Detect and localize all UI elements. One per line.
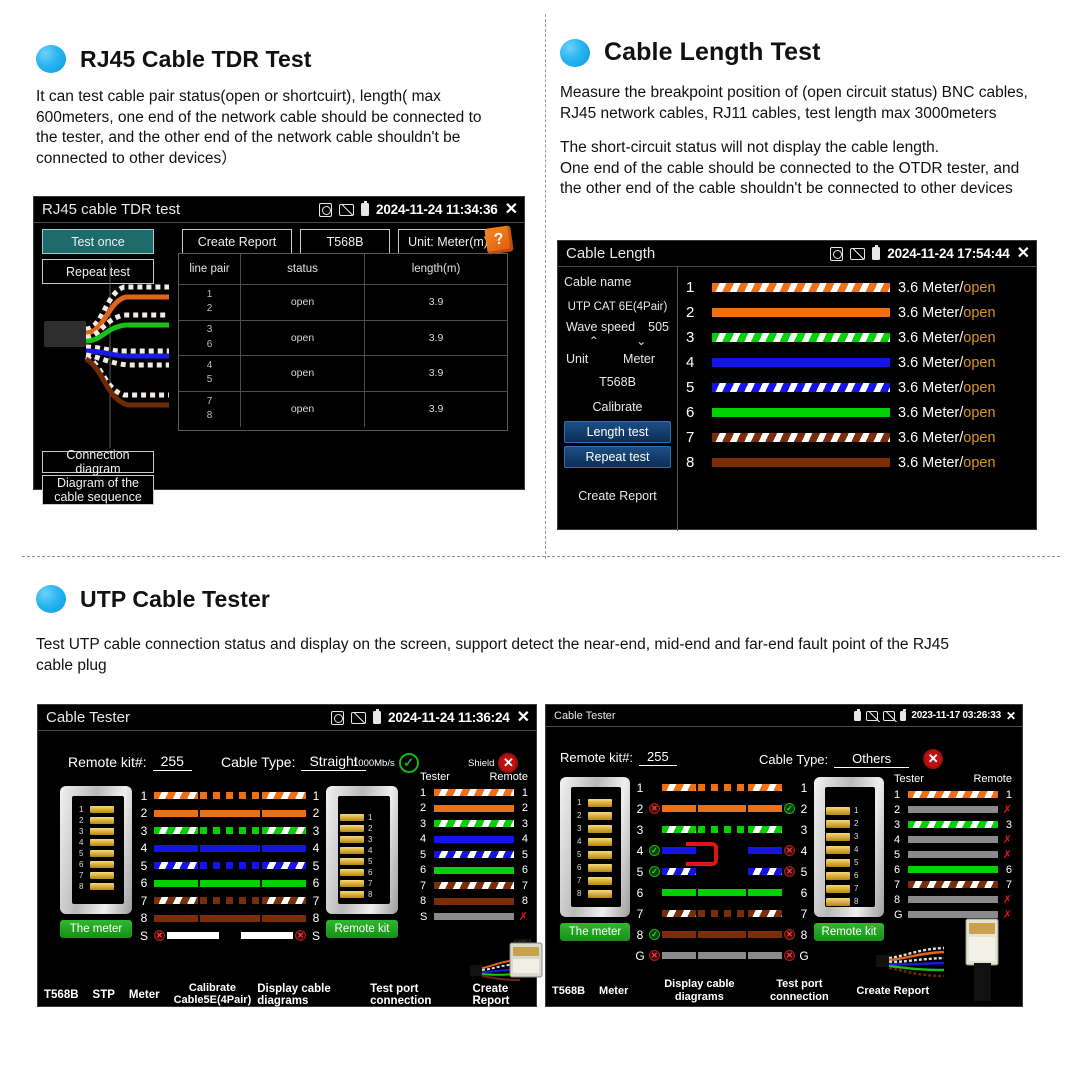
wire-bar [662, 784, 696, 791]
table-row: 36 open 3.9 [179, 321, 507, 357]
screen-icon [883, 711, 895, 721]
wire-bar [662, 952, 696, 959]
summary-left-pin: 2 [420, 802, 430, 814]
wire-bar [154, 810, 198, 817]
wire-right-number: 6 [798, 886, 810, 900]
footer-create-report[interactable]: Create Report [856, 985, 929, 997]
status-open: open [963, 330, 995, 346]
jack-pin [826, 872, 850, 880]
wire-bar [662, 826, 696, 833]
jack-pin [340, 891, 364, 898]
jack-pin [340, 880, 364, 887]
length-test-button[interactable]: Length test [564, 421, 671, 443]
jack-pin-label: 4 [854, 845, 858, 854]
wire-right-number: S [310, 929, 322, 943]
jack-pin-label: 6 [577, 863, 581, 872]
wire-right-number: 3 [798, 823, 810, 837]
fault-dot: ✕ [784, 845, 795, 856]
wire-segment: ✕✕ [154, 930, 306, 941]
line-number: 6 [686, 404, 704, 421]
jack-pin-label: 4 [577, 837, 581, 846]
wire-left-number: 4 [634, 844, 646, 858]
summary-bar [908, 896, 998, 903]
the-meter-button[interactable]: The meter [60, 920, 132, 938]
cable-wire-map: 1122334455667788S✕✕S [138, 787, 322, 945]
wire-left-number: 8 [634, 928, 646, 942]
shield-fail-icon: ✕ [498, 753, 518, 773]
page-title: Cable Length Test [604, 38, 821, 67]
tdr-body: Test once Create Report T568B Unit: Mete… [34, 223, 524, 491]
summary-right-pin: 8 [518, 895, 528, 907]
tdr-titlebar: RJ45 cable TDR test 2024-11-24 11:34:36 … [34, 197, 524, 223]
length-status: 3.6 Meter/open [898, 430, 996, 446]
pair-bottom: 5 [207, 374, 213, 385]
jack-pin [588, 890, 612, 898]
summary-bar [434, 820, 514, 827]
pair-bottom: 6 [207, 339, 213, 350]
standard-button[interactable]: T568B [558, 366, 677, 393]
the-meter-button[interactable]: The meter [560, 923, 630, 941]
wire-bar [748, 847, 782, 854]
wire-row: 22 [138, 805, 322, 823]
clen-results: 13.6 Meter/open23.6 Meter/open33.6 Meter… [678, 267, 1036, 531]
wire-row: 5✓✕5 [634, 861, 810, 882]
line-number: 2 [686, 304, 704, 321]
footer-test-port[interactable]: Test port connection [370, 983, 464, 1007]
wire-bar [262, 827, 306, 834]
wire-bar [698, 931, 746, 938]
section-paragraph: Test UTP cable connection status and dis… [36, 635, 986, 676]
footer-stp[interactable]: STP [93, 989, 115, 1001]
pass-dot: ✓ [649, 866, 660, 877]
summary-bar [908, 851, 998, 858]
line-number: 1 [686, 279, 704, 296]
header-length: length(m) [365, 254, 507, 284]
wire-bar [200, 880, 260, 887]
wire-row: 77 [138, 892, 322, 910]
wire-right-number: 3 [310, 824, 322, 838]
summary-left-pin: 4 [894, 834, 904, 846]
summary-right-pin: 7 [1002, 879, 1012, 891]
wire-bar [698, 952, 746, 959]
wire-row: 88 [138, 910, 322, 928]
battery-icon [361, 203, 369, 216]
pass-dot: ✓ [649, 845, 660, 856]
pair-top: 4 [207, 360, 213, 371]
wire-bar [698, 826, 746, 833]
jack-pin-label: 1 [854, 806, 858, 815]
jack-pin-label: 6 [368, 868, 372, 877]
jack-pin [588, 838, 612, 846]
fault-dot: ✕ [784, 866, 795, 877]
jack-pin [588, 812, 612, 820]
wire-bar [698, 889, 746, 896]
wire-bar [712, 383, 890, 392]
summary-right-pin: ✗ [1002, 893, 1012, 906]
remote-rj45-jack: 12345678 [326, 786, 398, 914]
summary-right-pin: ✗ [1002, 848, 1012, 861]
summary-tester-header: Tester [894, 773, 924, 785]
jack-pin [588, 851, 612, 859]
wire-segment [154, 862, 306, 869]
fault-dot: ✕ [649, 950, 660, 961]
jack-pin-label: 5 [854, 858, 858, 867]
wire-segment [154, 827, 306, 834]
battery-icon [872, 247, 880, 260]
length-status: 3.6 Meter/open [898, 355, 996, 371]
jack-pin-label: 8 [854, 897, 858, 906]
wire-segment [649, 784, 795, 791]
footer-t568b[interactable]: T568B [552, 985, 585, 997]
section-paragraph: Measure the breakpoint position of (open… [560, 83, 1038, 124]
footer-test-port[interactable]: Test port connection [766, 978, 832, 1002]
summary-row: 55 [420, 847, 528, 863]
wire-left-number: 3 [138, 824, 150, 838]
screen-off-icon [866, 711, 878, 721]
wire-left-number: S [138, 929, 150, 943]
wire-right-number: 5 [798, 865, 810, 879]
wire-bar [748, 784, 782, 791]
wire-bar [662, 805, 696, 812]
section-paragraph: It can test cable pair status(open or sh… [36, 87, 506, 169]
clen-title: Cable Length [566, 245, 655, 262]
jack-pin [588, 825, 612, 833]
jack-pin-label: 7 [854, 884, 858, 893]
wire-bar [200, 810, 260, 817]
jack-pin-label: 1 [368, 813, 372, 822]
wire-bar [698, 910, 746, 917]
remote-rj45-jack: 12345678 [814, 777, 884, 917]
wave-speed-label: Wave speed [566, 320, 635, 334]
wire-bar [712, 308, 890, 317]
wire-bar [662, 931, 696, 938]
status-open: open [963, 380, 995, 396]
close-icon[interactable]: ✕ [505, 202, 518, 218]
jack-pin-label: 3 [577, 824, 581, 833]
summary-row: 11 [894, 787, 1012, 802]
jack-pin-label: 4 [368, 846, 372, 855]
summary-right-pin: ✗ [1002, 803, 1012, 816]
create-report-button[interactable]: Create Report [558, 471, 677, 507]
wire-right-number: 7 [310, 894, 322, 908]
wire-right-number: 2 [310, 806, 322, 820]
section-cable-length: Cable Length Test Measure the breakpoint… [560, 38, 1050, 200]
wire-left-number: 3 [634, 823, 646, 837]
cell-length: 3.9 [429, 403, 444, 415]
chevron-up-icon[interactable]: ⌃ [589, 334, 599, 348]
summary-row: 44 [420, 832, 528, 848]
cable-wire-map: 112✕✓2334✓✕45✓✕566778✓✕8G✕✕G [634, 777, 810, 966]
jack-pin-label: 7 [577, 876, 581, 885]
shield-label: Shield [468, 758, 494, 769]
wire-segment [649, 889, 795, 896]
pair-top: 3 [207, 324, 213, 335]
summary-row: 33 [420, 816, 528, 832]
meter-rj45-jack: 12345678 [560, 777, 630, 917]
clock-icon [830, 247, 843, 261]
wire-bar [698, 805, 746, 812]
wire-bar [154, 792, 198, 799]
wire-bar [748, 889, 782, 896]
remote-kit-input[interactable]: 255 [153, 753, 192, 771]
cable-name-value[interactable]: UTP CAT 6E(4Pair) [558, 293, 677, 317]
wire-segment [154, 880, 306, 887]
jack-pin [90, 806, 114, 813]
wire-bar [748, 931, 782, 938]
remote-kit-input[interactable]: 255 [639, 749, 677, 766]
footer-calibrate[interactable]: Calibrate Cable5E(4Pair) [174, 983, 252, 1006]
cable-length-row: 43.6 Meter/open [686, 350, 1026, 375]
wire-left-number: G [634, 949, 646, 963]
wire-bar [662, 868, 696, 875]
fault-dot: ✕ [784, 950, 795, 961]
status-open: open [963, 305, 995, 321]
jack-pin-label: 8 [368, 890, 372, 899]
close-icon[interactable]: ✕ [517, 710, 530, 726]
vertical-divider [545, 14, 546, 559]
footer-meter[interactable]: Meter [599, 985, 628, 997]
jack-pin [90, 872, 114, 879]
pair-top: 1 [207, 289, 213, 300]
footer-create-report[interactable]: Create Report [472, 983, 536, 1007]
connection-diagram-button[interactable]: Connection diagram [42, 451, 154, 473]
wire-bar [200, 792, 260, 799]
tdr-screen: RJ45 cable TDR test 2024-11-24 11:34:36 … [33, 196, 525, 490]
summary-bar [434, 882, 514, 889]
remote-kit-button[interactable]: Remote kit [814, 923, 884, 941]
wire-bar [154, 880, 198, 887]
section-rj45-tdr: RJ45 Cable TDR Test It can test cable pa… [36, 45, 516, 169]
summary-bar [434, 805, 514, 812]
wire-bar [262, 792, 306, 799]
jack-pin-label: 6 [854, 871, 858, 880]
summary-row: 5✗ [894, 847, 1012, 862]
wire-row: 66 [634, 882, 810, 903]
summary-bar [908, 806, 998, 813]
summary-bar [908, 866, 998, 873]
wire-bar [154, 845, 198, 852]
jack-pin [90, 883, 114, 890]
jack-pin-label: 1 [79, 805, 83, 814]
jack-pin [90, 828, 114, 835]
summary-bar [434, 913, 514, 920]
jack-pin [588, 877, 612, 885]
remote-kit-button[interactable]: Remote kit [326, 920, 398, 938]
summary-left-pin: 5 [894, 849, 904, 861]
summary-row: 77 [420, 878, 528, 894]
test-once-button[interactable]: Test once [42, 229, 154, 254]
wire-segment [154, 845, 306, 852]
wire-bar [712, 408, 890, 417]
line-number: 3 [686, 329, 704, 346]
summary-right-pin: 3 [518, 818, 528, 830]
wire-row: S✕✕S [138, 927, 322, 945]
unit-value[interactable]: Meter [623, 352, 669, 366]
summary-right-pin: 7 [518, 880, 528, 892]
svg-text:12345678: 12345678 [968, 911, 990, 917]
cell-status: open [291, 296, 314, 308]
create-report-button[interactable]: Create Report [182, 229, 292, 254]
ct2-title: Cable Tester [554, 710, 616, 722]
summary-panel: Tester Remote 112✗334✗5✗66778✗G✗ [894, 773, 1012, 922]
wire-segment [154, 897, 306, 904]
summary-bar [434, 851, 514, 858]
jack-pin-label: 5 [368, 857, 372, 866]
wire-row: 11 [634, 777, 810, 798]
jack-pin-label: 2 [854, 819, 858, 828]
jack-pin [826, 807, 850, 815]
wire-right-number: 1 [798, 781, 810, 795]
table-row: 78 open 3.9 [179, 392, 507, 428]
wire-row: 33 [634, 819, 810, 840]
jack-pin-label: 3 [368, 835, 372, 844]
summary-remote-header: Remote [973, 773, 1012, 785]
length-status: 3.6 Meter/open [898, 405, 996, 421]
summary-row: 66 [894, 862, 1012, 877]
wire-bar [748, 868, 782, 875]
length-status: 3.6 Meter/open [898, 455, 996, 471]
help-book-icon[interactable]: ? [484, 225, 513, 254]
summary-row: S✗ [420, 909, 528, 925]
cable-sequence-button[interactable]: Diagram of the cable sequence [42, 475, 154, 505]
repeat-test-button[interactable]: Repeat test [564, 446, 671, 468]
wire-segment: ✕✓ [649, 803, 795, 814]
wire-bar [262, 810, 306, 817]
svg-text:12345678: 12345678 [513, 938, 532, 943]
pair-top: 7 [207, 396, 213, 407]
summary-left-pin: 8 [420, 895, 430, 907]
close-icon[interactable]: ✕ [1017, 246, 1030, 262]
wire-bar [154, 915, 198, 922]
jack-pin [340, 869, 364, 876]
summary-bar [908, 836, 998, 843]
jack-pin [826, 820, 850, 828]
wire-bar [200, 827, 260, 834]
wire-segment: ✓✕ [649, 845, 795, 856]
summary-right-pin: 6 [1002, 864, 1012, 876]
jack-pin [90, 839, 114, 846]
section-header: Cable Length Test [560, 38, 1050, 67]
wire-bar [748, 952, 782, 959]
section-paragraph: The short-circuit status will not displa… [560, 138, 1038, 200]
jack-pin-label: 1 [577, 798, 581, 807]
footer-display-diagrams[interactable]: Display cable diagrams [257, 983, 364, 1007]
unit-label: Unit [566, 352, 588, 366]
wire-row: 2✕✓2 [634, 798, 810, 819]
fault-dot: ✕ [295, 930, 306, 941]
rj45-plug-photo: 12345678 [508, 937, 544, 983]
cable-length-row: 73.6 Meter/open [686, 425, 1026, 450]
status-open: open [963, 355, 995, 371]
summary-right-pin: 6 [518, 864, 528, 876]
header-line-pair: line pair [179, 254, 241, 284]
footer-t568b[interactable]: T568B [44, 989, 79, 1001]
wire-right-number: G [798, 949, 810, 963]
wire-segment [154, 792, 306, 799]
fault-dot: ✕ [649, 803, 660, 814]
summary-left-pin: 1 [894, 789, 904, 801]
jack-pin-label: 2 [79, 816, 83, 825]
ct1-timestamp: 2024-11-24 11:36:24 [388, 710, 510, 725]
battery-small-icon [900, 711, 906, 721]
calibrate-button[interactable]: Calibrate [558, 393, 677, 418]
wire-segment [649, 826, 795, 833]
wire-right-number: 4 [310, 841, 322, 855]
wire-bar [262, 845, 306, 852]
wire-left-number: 2 [138, 806, 150, 820]
standard-button[interactable]: T568B [300, 229, 390, 254]
cable-length-row: 23.6 Meter/open [686, 300, 1026, 325]
wire-bar [154, 862, 198, 869]
wire-left-number: 2 [634, 802, 646, 816]
length-status: 3.6 Meter/open [898, 280, 996, 296]
clen-timestamp: 2024-11-24 17:54:44 [887, 246, 1009, 261]
wire-bar [241, 932, 293, 939]
jack-pin-label: 7 [368, 879, 372, 888]
jack-pin [340, 858, 364, 865]
screen-icon [351, 712, 366, 724]
chevron-down-icon[interactable]: ⌄ [636, 334, 646, 348]
jack-pin-label: 5 [79, 849, 83, 858]
wire-left-number: 1 [634, 781, 646, 795]
wire-bar [748, 826, 782, 833]
cell-length: 3.9 [429, 367, 444, 379]
summary-bar [434, 867, 514, 874]
cable-photo [876, 935, 946, 979]
summary-left-pin: 6 [420, 864, 430, 876]
ct1-titlebar: Cable Tester 2024-11-24 11:36:24 ✕ [38, 705, 536, 731]
document-page: RJ45 Cable TDR Test It can test cable pa… [0, 0, 1082, 1082]
jack-pin-label: 7 [79, 871, 83, 880]
speed-label: 1000Mb/s [353, 758, 395, 769]
summary-row: 11 [420, 785, 528, 801]
jack-pin [826, 846, 850, 854]
cable-type-value[interactable]: Others [834, 751, 909, 768]
cable-length-screen: Cable Length 2024-11-24 17:54:44 ✕ Cable… [557, 240, 1037, 530]
footer-display-diagrams[interactable]: Display cable diagrams [662, 978, 736, 1002]
summary-right-pin: 4 [518, 833, 528, 845]
cell-status: open [291, 403, 314, 415]
wire-right-number: 4 [798, 844, 810, 858]
jack-pin-label: 8 [577, 889, 581, 898]
table-header-row: line pair status length(m) [179, 254, 507, 285]
battery-icon [373, 711, 381, 724]
summary-right-pin: ✗ [518, 910, 528, 923]
cell-status: open [291, 332, 314, 344]
wire-left-number: 7 [634, 907, 646, 921]
wire-right-number: 1 [310, 789, 322, 803]
wire-row: 77 [634, 903, 810, 924]
wave-speed-value: 505 [648, 320, 669, 334]
cable-length-row: 83.6 Meter/open [686, 450, 1026, 475]
summary-bar [908, 881, 998, 888]
jack-pin [340, 825, 364, 832]
wire-bar [262, 915, 306, 922]
horizontal-divider [22, 556, 1060, 557]
cell-length: 3.9 [429, 332, 444, 344]
close-icon[interactable]: ✕ [1006, 710, 1016, 722]
unit-button[interactable]: Unit: Meter(m) [398, 229, 498, 254]
summary-right-pin: 3 [1002, 819, 1012, 831]
wire-row: G✕✕G [634, 945, 810, 966]
pair-bottom: 2 [207, 303, 213, 314]
cable-type-label: Cable Type: [221, 754, 295, 770]
wire-bar [200, 915, 260, 922]
summary-left-pin: 8 [894, 894, 904, 906]
wire-right-number: 6 [310, 876, 322, 890]
bullet-icon [560, 39, 590, 67]
footer-meter[interactable]: Meter [129, 989, 160, 1001]
